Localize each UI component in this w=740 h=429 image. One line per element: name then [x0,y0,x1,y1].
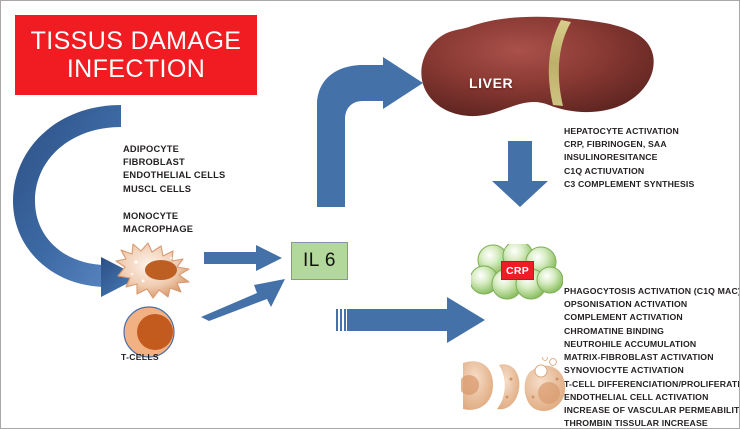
liver-effect-0: HEPATOCYTE ACTIVATION [564,125,694,138]
crp-effects-list: PHAGOCYTOSIS ACTIVATION (C1Q MAC) OPSONI… [564,285,740,429]
source-cell-a-3: MUSCL CELLS [123,183,225,196]
title-line-2: INFECTION [67,55,205,83]
crp-effect-1: OPSONISATION ACTIVATION [564,298,740,311]
tcell-caption: T-CELLS [121,352,159,362]
crp-effect-5: MATRIX-FIBROBLAST ACTIVATION [564,351,740,364]
title-banner: TISSUS DAMAGE INFECTION [15,15,257,95]
arrow-liver-to-effects [490,141,550,207]
source-cell-a-0: ADIPOCYTE [123,143,225,156]
liver-effect-4: C3 COMPLEMENT SYNTHESIS [564,178,694,191]
arrow-il6-to-crp [335,296,487,344]
crp-effect-6: SYNOVIOCYTE ACTIVATION [564,364,740,377]
liver-illustration: LIVER [409,13,659,131]
source-cell-a-2: ENDOTHELIAL CELLS [123,169,225,182]
liver-label: LIVER [469,75,513,91]
crp-effect-0: PHAGOCYTOSIS ACTIVATION (C1Q MAC) [564,285,740,298]
crp-label: CRP [506,265,529,277]
arrow-macrophage-to-il6 [204,245,282,271]
liver-effect-1: CRP, FIBRINOGEN, SAA [564,138,694,151]
source-cell-b-0: MONOCYTE [123,210,193,223]
crp-effect-7: T-CELL DIFFERENCIATION/PROLIFERATION [564,378,740,391]
il6-label: IL 6 [303,250,336,272]
crp-effect-2: COMPLEMENT ACTIVATION [564,311,740,324]
liver-effect-3: C1Q ACTIUVATION [564,165,694,178]
liver-effects-list: HEPATOCYTE ACTIVATION CRP, FIBRINOGEN, S… [564,125,694,191]
diagram-canvas: TISSUS DAMAGE INFECTION ADIPOCYTE FIBROB… [0,0,740,429]
source-cell-a-1: FIBROBLAST [123,156,225,169]
effector-cells-icon [461,357,571,415]
crp-effect-9: INCREASE OF VASCULAR PERMEABILITY [564,404,740,417]
source-cell-b-1: MACROPHAGE [123,223,193,236]
source-cell-list-a: ADIPOCYTE FIBROBLAST ENDOTHELIAL CELLS M… [123,143,225,196]
crp-effect-3: CHROMATINE BINDING [564,325,740,338]
crp-effect-10: THROMBIN TISSULAR INCREASE [564,417,740,429]
liver-shape [409,13,659,131]
il6-box: IL 6 [291,242,348,280]
crp-effect-8: ENDOTHELIAL CELL ACTIVATION [564,391,740,404]
crp-effect-4: NEUTROHILE ACCUMULATION [564,338,740,351]
title-line-1: TISSUS DAMAGE [31,27,242,55]
crp-badge: CRP [501,261,534,280]
macrophage-icon [109,237,205,303]
crp-cluster: CRP [471,244,563,306]
liver-effect-2: INSULINORESITANCE [564,151,694,164]
source-cell-list-b: MONOCYTE MACROPHAGE [123,210,193,236]
arrow-tcell-to-il6 [199,273,287,321]
